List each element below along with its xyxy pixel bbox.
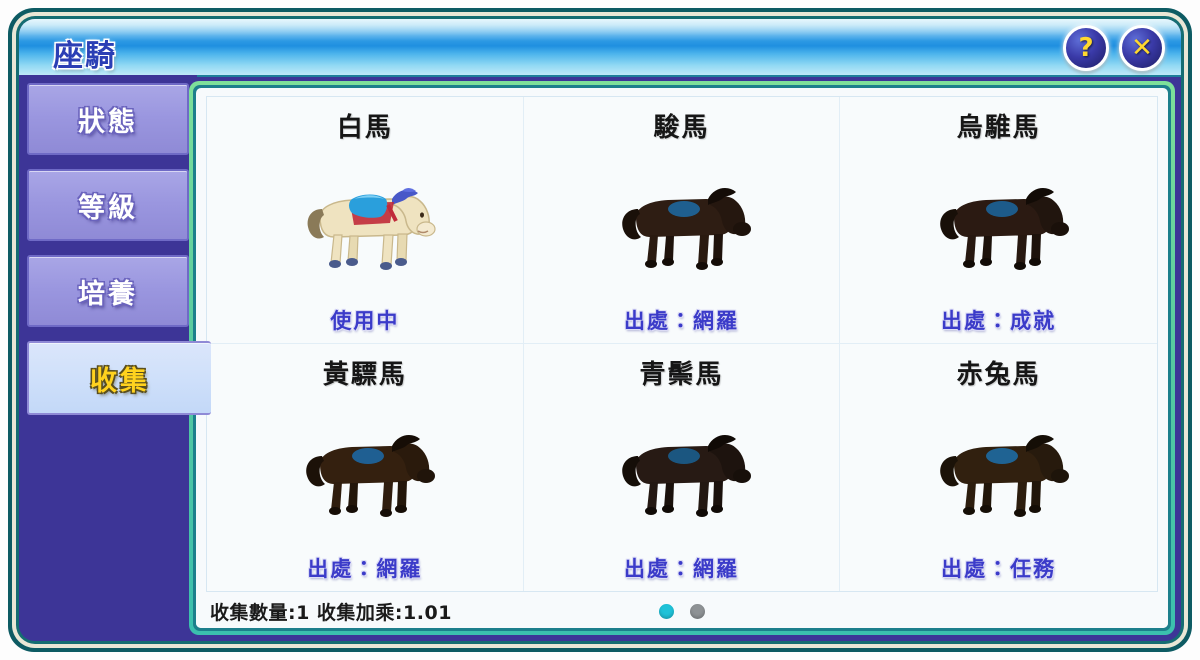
horse-silhouette-icon xyxy=(924,165,1074,285)
mount-sprite-box xyxy=(844,391,1153,553)
collection-summary: 收集數量:1 收集加乘:1.01 xyxy=(210,598,452,625)
mount-status: 出處：成就 xyxy=(941,305,1056,335)
game-screen: 座騎 ? ✕ 狀態 等級 xyxy=(0,0,1200,660)
mount-card[interactable]: 白馬 xyxy=(207,97,524,344)
window-buttons: ? ✕ xyxy=(1063,25,1165,71)
mount-card[interactable]: 烏騅馬 xyxy=(840,97,1157,344)
mount-sprite-box xyxy=(528,144,836,305)
page-title: 座騎 xyxy=(53,31,117,75)
mount-name: 烏騅馬 xyxy=(957,107,1041,144)
mount-sprite-box xyxy=(528,391,836,553)
mount-status: 使用中 xyxy=(330,305,399,335)
sidebar: 狀態 等級 培養 收集 xyxy=(19,75,197,641)
mount-card[interactable]: 赤兔馬 xyxy=(840,344,1157,591)
mount-sprite-box xyxy=(211,144,519,305)
mount-sprite-box xyxy=(211,391,519,553)
sidebar-item-label: 狀態 xyxy=(78,100,138,139)
pagination-dot-1[interactable] xyxy=(659,604,674,619)
close-button[interactable]: ✕ xyxy=(1119,25,1165,71)
mount-card[interactable]: 駿馬 xyxy=(524,97,841,344)
mount-card[interactable]: 青鬃馬 xyxy=(524,344,841,591)
mount-card[interactable]: 黃驃馬 xyxy=(207,344,524,591)
mount-sprite-box xyxy=(844,144,1153,305)
sidebar-item-collect[interactable]: 收集 xyxy=(27,341,211,415)
mount-name: 青鬃馬 xyxy=(639,354,723,391)
mount-window: 座騎 ? ✕ 狀態 等級 xyxy=(8,8,1192,652)
sidebar-item-label: 收集 xyxy=(90,359,150,398)
collection-page: 白馬 xyxy=(196,88,1168,628)
mount-name: 白馬 xyxy=(337,107,393,144)
close-icon: ✕ xyxy=(1131,35,1153,61)
window-body: 座騎 ? ✕ 狀態 等級 xyxy=(19,19,1181,641)
horse-silhouette-icon xyxy=(606,165,756,285)
content-panel: 白馬 xyxy=(189,81,1175,635)
sidebar-item-label: 培養 xyxy=(78,272,138,311)
help-button[interactable]: ? xyxy=(1063,25,1109,71)
title-bar-sheen xyxy=(19,19,1181,41)
sidebar-item-status[interactable]: 狀態 xyxy=(27,83,189,155)
horse-silhouette-icon xyxy=(606,412,756,532)
sidebar-tab-list: 狀態 等級 培養 收集 xyxy=(19,75,197,415)
horse-silhouette-icon xyxy=(290,412,440,532)
question-mark-icon: ? xyxy=(1078,35,1093,61)
status-bar: 收集數量:1 收集加乘:1.01 xyxy=(196,594,1168,628)
mount-grid: 白馬 xyxy=(206,96,1158,592)
mount-name: 赤兔馬 xyxy=(957,354,1041,391)
mount-status: 出處：網羅 xyxy=(307,553,422,583)
sidebar-item-cultivate[interactable]: 培養 xyxy=(27,255,189,327)
pagination-dot-2[interactable] xyxy=(690,604,705,619)
content-panel-inner: 白馬 xyxy=(193,85,1171,631)
title-bar: 座騎 ? ✕ xyxy=(19,19,1181,77)
mount-name: 駿馬 xyxy=(653,107,709,144)
window-frame-inner: 座騎 ? ✕ 狀態 等級 xyxy=(16,16,1184,644)
horse-icon xyxy=(290,165,440,285)
sidebar-item-level[interactable]: 等級 xyxy=(27,169,189,241)
mount-status: 出處：網羅 xyxy=(624,553,739,583)
window-frame-highlight: 座騎 ? ✕ 狀態 等級 xyxy=(12,12,1188,648)
mount-name: 黃驃馬 xyxy=(323,354,407,391)
sidebar-item-label: 等級 xyxy=(78,186,138,225)
mount-status: 出處：網羅 xyxy=(624,305,739,335)
mount-status: 出處：任務 xyxy=(941,553,1056,583)
horse-silhouette-icon xyxy=(924,412,1074,532)
